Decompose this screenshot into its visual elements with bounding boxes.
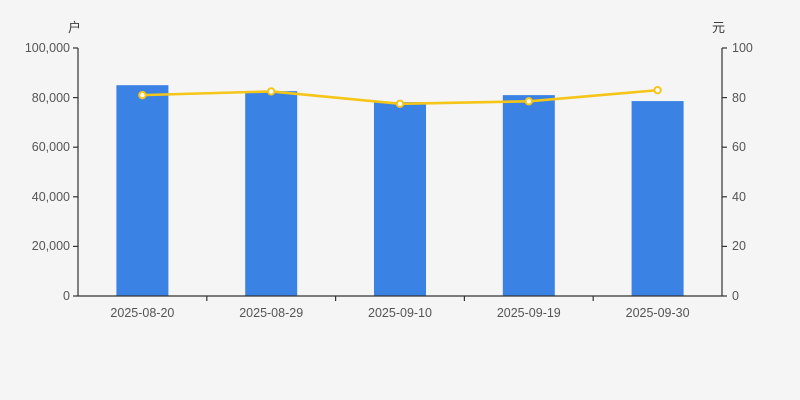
left-axis-tick-label-40000: 40,000 <box>8 191 70 204</box>
bar-series-group <box>116 85 683 296</box>
right-axis-tick-label-0: 0 <box>732 290 739 303</box>
bar-2025-09-10[interactable] <box>374 102 426 296</box>
left-axis-tick-label-60000: 60,000 <box>8 141 70 154</box>
left-axis-tick-label-20000: 20,000 <box>8 240 70 253</box>
right-axis-tick-label-100: 100 <box>732 42 753 55</box>
right-axis-tick-label-60: 60 <box>732 141 746 154</box>
left-axis-tick-label-100000: 100,000 <box>8 42 70 55</box>
bar-2025-09-30[interactable] <box>632 101 684 296</box>
x-axis-tick-label-2025-08-20: 2025-08-20 <box>110 306 174 320</box>
chart-container: 户 元 020,00040,00060,00080,000100,0000204… <box>0 0 800 400</box>
x-axis-tick-label-2025-09-30: 2025-09-30 <box>626 306 690 320</box>
line-marker-2025-08-29[interactable] <box>268 88 274 94</box>
bar-2025-09-19[interactable] <box>503 95 555 296</box>
bar-2025-08-20[interactable] <box>116 85 168 296</box>
plot-area <box>0 0 800 400</box>
x-axis-tick-label-2025-09-19: 2025-09-19 <box>497 306 561 320</box>
right-axis-tick-label-20: 20 <box>732 240 746 253</box>
line-marker-2025-09-30[interactable] <box>654 87 660 93</box>
left-axis-tick-label-0: 0 <box>8 290 70 303</box>
left-axis-tick-label-80000: 80,000 <box>8 91 70 104</box>
right-axis-tick-label-40: 40 <box>732 191 746 204</box>
x-axis-tick-label-2025-09-10: 2025-09-10 <box>368 306 432 320</box>
line-marker-2025-08-20[interactable] <box>139 92 145 98</box>
line-series-group <box>139 87 661 107</box>
bar-2025-08-29[interactable] <box>245 91 297 296</box>
x-axis-tick-label-2025-08-29: 2025-08-29 <box>239 306 303 320</box>
right-axis-tick-label-80: 80 <box>732 91 746 104</box>
line-marker-2025-09-10[interactable] <box>397 101 403 107</box>
line-marker-2025-09-19[interactable] <box>526 98 532 104</box>
